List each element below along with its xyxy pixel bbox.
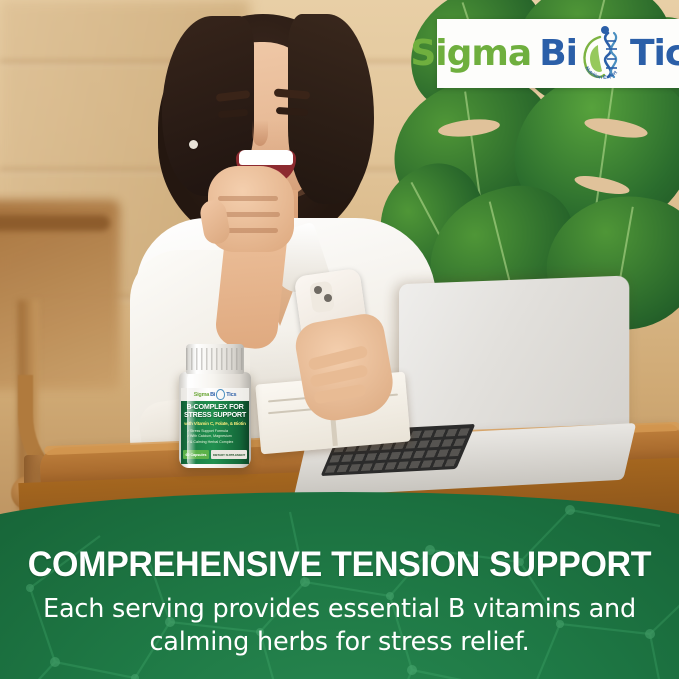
banner-subline-1: Each serving provides essential B vitami… (0, 593, 679, 626)
background-chair-rail (0, 215, 110, 231)
phone-camera-lens (324, 294, 332, 302)
logo-text-bi: Bi (539, 33, 577, 74)
phone-camera-lens (314, 286, 322, 294)
banner-copy: COMPREHENSIVE TENSION SUPPORT Each servi… (0, 546, 679, 659)
brand-logo: Sigma Bi (410, 25, 679, 83)
supplement-bottle: Sigma Bi Tics B-COMPLEX FOR STRESS SUPPO… (173, 344, 257, 470)
banner-headline: COMPREHENSIVE TENSION SUPPORT (10, 546, 669, 584)
teeth (239, 150, 293, 165)
dna-leaf-icon: Nutrition Expert (578, 25, 626, 83)
nose (252, 120, 268, 146)
logo-text-tics: Tics (630, 33, 679, 74)
logo-text-sigma: Sigma (410, 33, 531, 74)
bottle-brand-bi: Bi (210, 392, 215, 398)
bottle-highlight (187, 374, 196, 466)
knuckle-line (218, 196, 278, 201)
bottle-brand-tics: Tics (226, 392, 236, 398)
brand-logo-box: Sigma Bi (437, 19, 679, 88)
banner-subline-2: calming herbs for stress relief. (0, 626, 679, 659)
dietary-supplement-badge: DIETARY SUPPLEMENT (211, 450, 247, 459)
dna-leaf-icon (216, 389, 225, 400)
bottle-cap-ridges (186, 348, 244, 370)
dna-leaf-svg: Nutrition Expert (578, 25, 626, 83)
bottle-benefit-list: Stress Support Formula With Calcium, Mag… (187, 429, 247, 445)
bottle-benefit-item: & Calming Herbal Complex (187, 440, 247, 445)
product-marketing-image: Sigma Bi Tics B-COMPLEX FOR STRESS SUPPO… (0, 0, 679, 679)
earring (189, 140, 198, 149)
